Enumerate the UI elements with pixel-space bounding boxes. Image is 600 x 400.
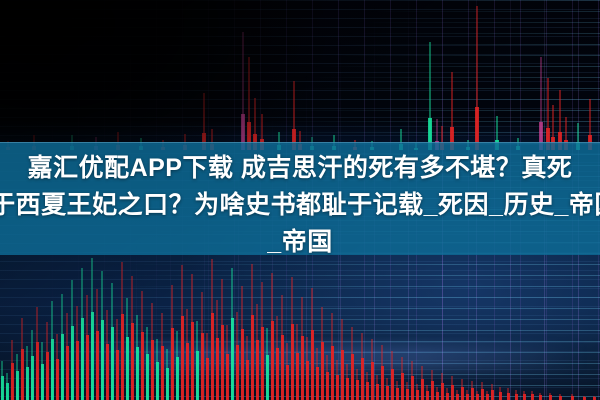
caption-line-3: _帝国 — [0, 224, 600, 260]
caption-line-1: 嘉汇优配APP下载 成吉思汗的死有多不堪？真死 — [0, 150, 600, 187]
thumbnail-image: 嘉汇优配APP下载 成吉思汗的死有多不堪？真死 于西夏王妃之口？为啥史书都耻于记… — [0, 0, 600, 400]
caption-text-block: 嘉汇优配APP下载 成吉思汗的死有多不堪？真死 于西夏王妃之口？为啥史书都耻于记… — [0, 150, 600, 260]
caption-line-2: 于西夏王妃之口？为啥史书都耻于记载_死因_历史_帝国 — [0, 187, 600, 224]
